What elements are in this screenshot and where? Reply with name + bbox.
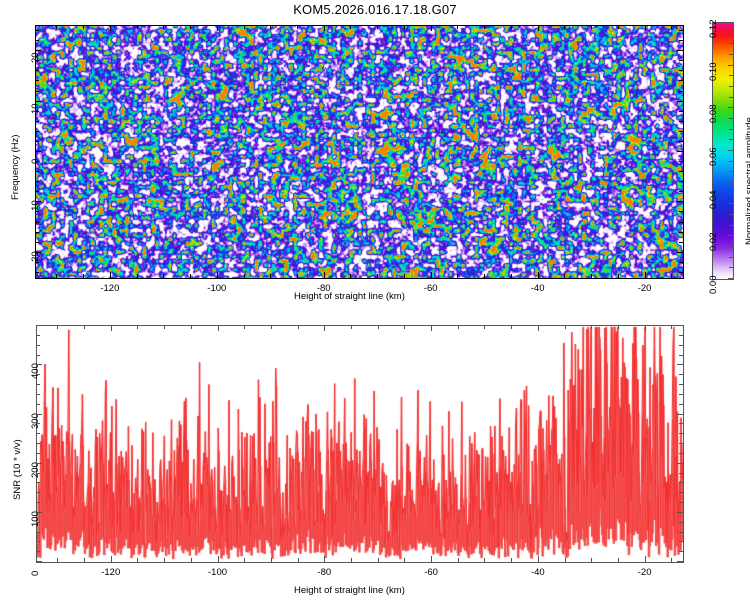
tick-mark-minor — [297, 274, 298, 278]
tick-mark — [431, 272, 432, 278]
snr-xtick-label: -120 — [89, 567, 133, 578]
tick-mark-minor — [56, 25, 57, 29]
tick-mark-minor — [35, 191, 39, 192]
tick-mark-minor — [729, 86, 733, 87]
tick-mark-minor — [591, 25, 592, 29]
colorbar-tick-label: 0.00 — [708, 276, 719, 295]
tick-mark-minor — [679, 492, 683, 493]
tick-mark-minor — [679, 374, 683, 375]
tick-mark-minor — [164, 558, 165, 562]
tick-mark-minor — [729, 203, 733, 204]
tick-mark-minor — [404, 25, 405, 29]
tick-mark-minor — [404, 558, 405, 562]
tick-mark-minor — [679, 211, 683, 212]
tick-mark — [35, 50, 41, 51]
tick-mark — [218, 325, 219, 331]
tick-mark-minor — [35, 171, 39, 172]
tick-mark-minor — [457, 274, 458, 278]
tick-mark-minor — [729, 161, 733, 162]
tick-mark-minor — [729, 54, 733, 55]
tick-mark — [677, 364, 683, 365]
snr-trace-plot — [37, 326, 683, 562]
tick-mark-minor — [36, 355, 40, 356]
tick-mark — [35, 151, 41, 152]
spectrogram-xtick-label: -40 — [516, 283, 560, 294]
colorbar-tick-label: 0.12 — [708, 20, 719, 39]
tick-mark-minor — [729, 214, 733, 215]
tick-mark-minor — [35, 80, 39, 81]
tick-mark-minor — [729, 246, 733, 247]
tick-mark — [36, 561, 42, 562]
snr-ytick-label: 200 — [30, 462, 41, 478]
colorbar-label: Normalized spectral amplitude — [744, 117, 750, 245]
spectrogram-ytick-label: 10 — [30, 103, 41, 114]
snr-xtick-label: -40 — [516, 567, 560, 578]
tick-mark-minor — [679, 453, 683, 454]
tick-mark-minor — [679, 335, 683, 336]
tick-mark-minor — [484, 325, 485, 329]
tick-mark-minor — [511, 274, 512, 278]
tick-mark — [538, 556, 539, 562]
tick-mark-minor — [564, 25, 565, 29]
tick-mark-minor — [564, 274, 565, 278]
tick-mark-minor — [350, 274, 351, 278]
tick-mark — [324, 25, 325, 31]
tick-mark-minor — [35, 161, 39, 162]
tick-mark-minor — [671, 325, 672, 329]
tick-mark-minor — [56, 274, 57, 278]
snr-ytick-label: 300 — [30, 413, 41, 429]
spectrogram-xtick-label: -100 — [195, 283, 239, 294]
tick-mark-minor — [36, 541, 40, 542]
tick-mark-minor — [36, 551, 40, 552]
tick-mark — [538, 272, 539, 278]
snr-xtick-label: -60 — [409, 567, 453, 578]
tick-mark — [35, 101, 41, 102]
tick-mark-minor — [270, 25, 271, 29]
tick-mark-minor — [36, 502, 40, 503]
tick-mark — [324, 556, 325, 562]
tick-mark — [728, 107, 733, 108]
colorbar-tick-label: 0.04 — [708, 190, 719, 209]
snr-ytick-label: 0 — [30, 571, 41, 576]
tick-mark-minor — [35, 131, 39, 132]
tick-mark — [645, 272, 646, 278]
snr-ylabel: SNR (10 * v/v) — [12, 439, 23, 500]
colorbar-tick-label: 0.10 — [708, 62, 719, 81]
tick-mark — [645, 325, 646, 331]
tick-mark-minor — [35, 262, 39, 263]
tick-mark — [677, 201, 683, 202]
tick-mark-minor — [35, 272, 39, 273]
tick-mark — [35, 252, 41, 253]
tick-mark — [111, 556, 112, 562]
tick-mark-minor — [679, 171, 683, 172]
tick-mark — [677, 101, 683, 102]
tick-mark-minor — [35, 40, 39, 41]
tick-mark — [431, 325, 432, 331]
tick-mark — [645, 556, 646, 562]
tick-mark-minor — [36, 443, 40, 444]
tick-mark — [218, 556, 219, 562]
tick-mark-minor — [271, 558, 272, 562]
tick-mark-minor — [679, 345, 683, 346]
spectrogram-panel — [35, 25, 684, 279]
tick-mark-minor — [671, 25, 672, 29]
spectrogram-xtick-label: -120 — [88, 283, 132, 294]
tick-mark-minor — [458, 325, 459, 329]
tick-mark — [677, 463, 683, 464]
tick-mark-minor — [679, 482, 683, 483]
tick-mark-minor — [679, 473, 683, 474]
tick-mark — [728, 65, 733, 66]
tick-mark-minor — [618, 325, 619, 329]
tick-mark — [677, 414, 683, 415]
tick-mark-minor — [729, 225, 733, 226]
tick-mark-minor — [36, 482, 40, 483]
tick-mark-minor — [679, 181, 683, 182]
tick-mark-minor — [671, 274, 672, 278]
tick-mark-minor — [679, 522, 683, 523]
spectrogram-ytick-label: 20 — [30, 53, 41, 64]
tick-mark-minor — [729, 75, 733, 76]
tick-mark-minor — [679, 532, 683, 533]
tick-mark-minor — [729, 33, 733, 34]
tick-mark-minor — [35, 242, 39, 243]
tick-mark — [728, 22, 733, 23]
tick-mark-minor — [378, 558, 379, 562]
tick-mark — [677, 151, 683, 152]
tick-mark-minor — [404, 325, 405, 329]
tick-mark-minor — [591, 558, 592, 562]
colorbar-tick-label: 0.08 — [708, 105, 719, 124]
spectrogram-xtick-label: -60 — [409, 283, 453, 294]
tick-mark-minor — [35, 181, 39, 182]
tick-mark-minor — [679, 60, 683, 61]
tick-mark-minor — [244, 558, 245, 562]
tick-mark-minor — [36, 473, 40, 474]
tick-mark-minor — [729, 139, 733, 140]
snr-xtick-label: -80 — [302, 567, 346, 578]
tick-mark-minor — [484, 558, 485, 562]
tick-mark-minor — [270, 274, 271, 278]
tick-mark-minor — [191, 558, 192, 562]
snr-ytick-label: 100 — [30, 511, 41, 527]
tick-mark — [677, 512, 683, 513]
tick-mark-minor — [164, 325, 165, 329]
tick-mark — [728, 278, 733, 279]
tick-mark-minor — [679, 141, 683, 142]
tick-mark-minor — [163, 274, 164, 278]
snr-xtick-label: -20 — [623, 567, 667, 578]
tick-mark-minor — [729, 43, 733, 44]
tick-mark-minor — [36, 453, 40, 454]
spectrogram-xtick-label: -80 — [302, 283, 346, 294]
tick-mark-minor — [35, 91, 39, 92]
tick-mark-minor — [35, 232, 39, 233]
tick-mark-minor — [36, 492, 40, 493]
tick-mark-minor — [457, 25, 458, 29]
tick-mark-minor — [679, 40, 683, 41]
spectrogram-xtick-label: -20 — [623, 283, 667, 294]
tick-mark-minor — [35, 30, 39, 31]
tick-mark-minor — [244, 325, 245, 329]
colorbar-tick-label: 0.02 — [708, 233, 719, 252]
tick-mark-minor — [729, 97, 733, 98]
tick-mark — [538, 325, 539, 331]
tick-mark-minor — [565, 558, 566, 562]
tick-mark-minor — [679, 384, 683, 385]
tick-mark-minor — [679, 191, 683, 192]
tick-mark-minor — [36, 345, 40, 346]
tick-mark-minor — [244, 274, 245, 278]
tick-mark-minor — [36, 433, 40, 434]
tick-mark-minor — [404, 274, 405, 278]
tick-mark-minor — [729, 118, 733, 119]
tick-mark-minor — [57, 325, 58, 329]
tick-mark-minor — [729, 257, 733, 258]
tick-mark-minor — [351, 558, 352, 562]
tick-mark — [217, 272, 218, 278]
tick-mark-minor — [163, 25, 164, 29]
tick-mark-minor — [84, 325, 85, 329]
tick-mark-minor — [591, 325, 592, 329]
snr-ytick-label: 400 — [30, 363, 41, 379]
tick-mark-minor — [298, 558, 299, 562]
tick-mark-minor — [511, 558, 512, 562]
tick-mark-minor — [729, 171, 733, 172]
tick-mark-minor — [679, 423, 683, 424]
tick-mark-minor — [679, 551, 683, 552]
tick-mark-minor — [351, 325, 352, 329]
tick-mark — [431, 25, 432, 31]
tick-mark-minor — [271, 325, 272, 329]
tick-mark — [677, 252, 683, 253]
tick-mark-minor — [137, 274, 138, 278]
tick-mark — [677, 50, 683, 51]
tick-mark — [645, 25, 646, 31]
tick-mark-minor — [350, 25, 351, 29]
tick-mark-minor — [191, 325, 192, 329]
tick-mark — [217, 25, 218, 31]
tick-mark — [35, 201, 41, 202]
tick-mark-minor — [35, 70, 39, 71]
tick-mark-minor — [35, 121, 39, 122]
tick-mark — [36, 463, 42, 464]
tick-mark-minor — [83, 25, 84, 29]
tick-mark — [324, 325, 325, 331]
tick-mark-minor — [679, 131, 683, 132]
tick-mark-minor — [36, 335, 40, 336]
tick-mark-minor — [83, 274, 84, 278]
tick-mark-minor — [729, 129, 733, 130]
tick-mark-minor — [679, 242, 683, 243]
tick-mark — [677, 561, 683, 562]
tick-mark-minor — [671, 558, 672, 562]
tick-mark-minor — [565, 325, 566, 329]
tick-mark-minor — [84, 558, 85, 562]
tick-mark-minor — [679, 80, 683, 81]
spectrogram-ylabel: Frequency (Hz) — [10, 135, 21, 200]
figure-container: KOM5.2026.016.17.18.G07 Frequency (Hz) H… — [0, 0, 750, 600]
tick-mark-minor — [679, 222, 683, 223]
tick-mark-minor — [35, 141, 39, 142]
tick-mark — [728, 150, 733, 151]
tick-mark-minor — [679, 262, 683, 263]
tick-mark-minor — [679, 541, 683, 542]
tick-mark-minor — [511, 325, 512, 329]
tick-mark-minor — [679, 394, 683, 395]
tick-mark-minor — [378, 325, 379, 329]
tick-mark-minor — [36, 374, 40, 375]
tick-mark-minor — [591, 274, 592, 278]
tick-mark-minor — [190, 274, 191, 278]
tick-mark-minor — [36, 423, 40, 424]
tick-mark-minor — [679, 111, 683, 112]
tick-mark-minor — [618, 25, 619, 29]
snr-xlabel: Height of straight line (km) — [294, 585, 405, 596]
tick-mark-minor — [297, 25, 298, 29]
snr-panel — [36, 325, 684, 563]
tick-mark-minor — [36, 532, 40, 533]
tick-mark-minor — [137, 25, 138, 29]
tick-mark-minor — [511, 25, 512, 29]
tick-mark — [110, 25, 111, 31]
tick-mark-minor — [679, 502, 683, 503]
tick-mark — [728, 193, 733, 194]
tick-mark-minor — [679, 443, 683, 444]
tick-mark — [538, 25, 539, 31]
tick-mark-minor — [35, 222, 39, 223]
tick-mark-minor — [679, 232, 683, 233]
tick-mark-minor — [679, 404, 683, 405]
tick-mark-minor — [36, 404, 40, 405]
tick-mark-minor — [298, 325, 299, 329]
tick-mark — [110, 272, 111, 278]
tick-mark-minor — [618, 274, 619, 278]
tick-mark-minor — [679, 161, 683, 162]
tick-mark-minor — [35, 111, 39, 112]
tick-mark-minor — [377, 274, 378, 278]
page-title: KOM5.2026.016.17.18.G07 — [0, 2, 750, 17]
tick-mark-minor — [57, 558, 58, 562]
tick-mark-minor — [679, 91, 683, 92]
tick-mark — [36, 364, 42, 365]
tick-mark-minor — [729, 182, 733, 183]
spectrogram-image — [36, 26, 683, 278]
tick-mark-minor — [458, 558, 459, 562]
tick-mark-minor — [137, 325, 138, 329]
tick-mark-minor — [679, 121, 683, 122]
tick-mark-minor — [35, 60, 39, 61]
tick-mark — [728, 235, 733, 236]
snr-xtick-label: -100 — [196, 567, 240, 578]
tick-mark-minor — [679, 70, 683, 71]
tick-mark-minor — [35, 211, 39, 212]
tick-mark — [324, 272, 325, 278]
tick-mark-minor — [679, 30, 683, 31]
tick-mark-minor — [679, 272, 683, 273]
tick-mark-minor — [377, 25, 378, 29]
tick-mark-minor — [484, 25, 485, 29]
tick-mark-minor — [137, 558, 138, 562]
tick-mark-minor — [679, 433, 683, 434]
colorbar-tick-label: 0.06 — [708, 148, 719, 167]
tick-mark — [36, 512, 42, 513]
tick-mark-minor — [36, 384, 40, 385]
tick-mark-minor — [190, 25, 191, 29]
tick-mark-minor — [618, 558, 619, 562]
tick-mark — [431, 556, 432, 562]
tick-mark-minor — [679, 355, 683, 356]
tick-mark-minor — [244, 25, 245, 29]
tick-mark-minor — [484, 274, 485, 278]
tick-mark-minor — [729, 267, 733, 268]
tick-mark — [36, 414, 42, 415]
tick-mark-minor — [36, 522, 40, 523]
tick-mark-minor — [36, 394, 40, 395]
tick-mark — [111, 325, 112, 331]
